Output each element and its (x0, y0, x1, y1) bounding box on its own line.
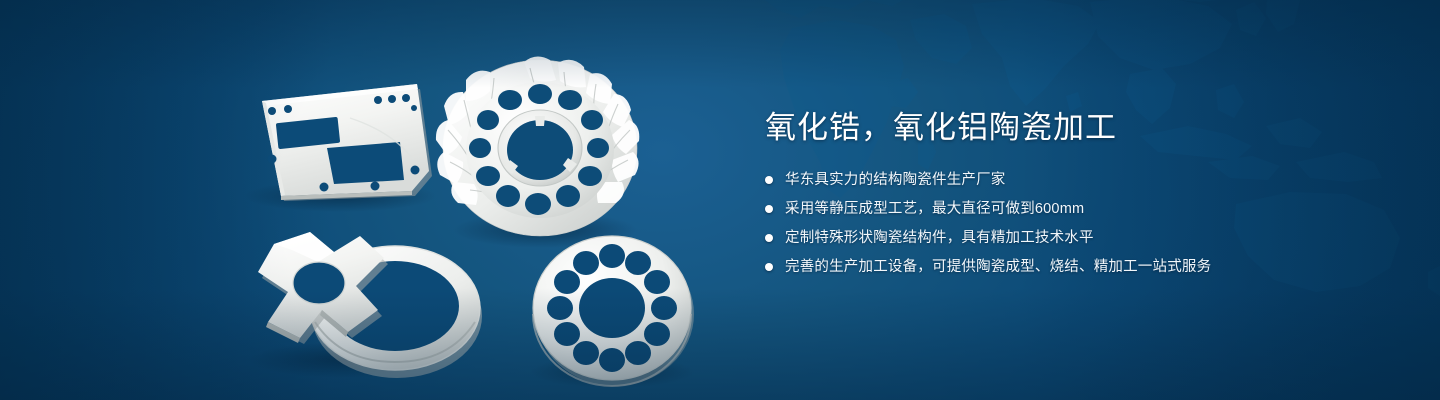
feature-text: 采用等静压成型工艺，最大直径可做到600mm (785, 199, 1084, 219)
hero-banner: 氧化锆，氧化铝陶瓷加工 华东具实力的结构陶瓷件生产厂家 采用等静压成型工艺，最大… (0, 0, 1440, 400)
banner-copy: 氧化锆，氧化铝陶瓷加工 华东具实力的结构陶瓷件生产厂家 采用等静压成型工艺，最大… (765, 108, 1385, 286)
list-item: 完善的生产加工设备，可提供陶瓷成型、烧结、精加工一站式服务 (765, 257, 1385, 277)
banner-headline: 氧化锆，氧化铝陶瓷加工 (765, 108, 1385, 148)
list-item: 华东具实力的结构陶瓷件生产厂家 (765, 170, 1385, 190)
bullet-dot-icon (765, 263, 773, 271)
bullet-dot-icon (765, 176, 773, 184)
bullet-dot-icon (765, 205, 773, 213)
bullet-dot-icon (765, 234, 773, 242)
feature-text: 完善的生产加工设备，可提供陶瓷成型、烧结、精加工一站式服务 (785, 257, 1211, 277)
feature-text: 华东具实力的结构陶瓷件生产厂家 (785, 170, 1006, 190)
feature-text: 定制特殊形状陶瓷结构件，具有精加工技术水平 (785, 228, 1094, 248)
feature-list: 华东具实力的结构陶瓷件生产厂家 采用等静压成型工艺，最大直径可做到600mm 定… (765, 170, 1385, 277)
list-item: 定制特殊形状陶瓷结构件，具有精加工技术水平 (765, 228, 1385, 248)
list-item: 采用等静压成型工艺，最大直径可做到600mm (765, 199, 1385, 219)
